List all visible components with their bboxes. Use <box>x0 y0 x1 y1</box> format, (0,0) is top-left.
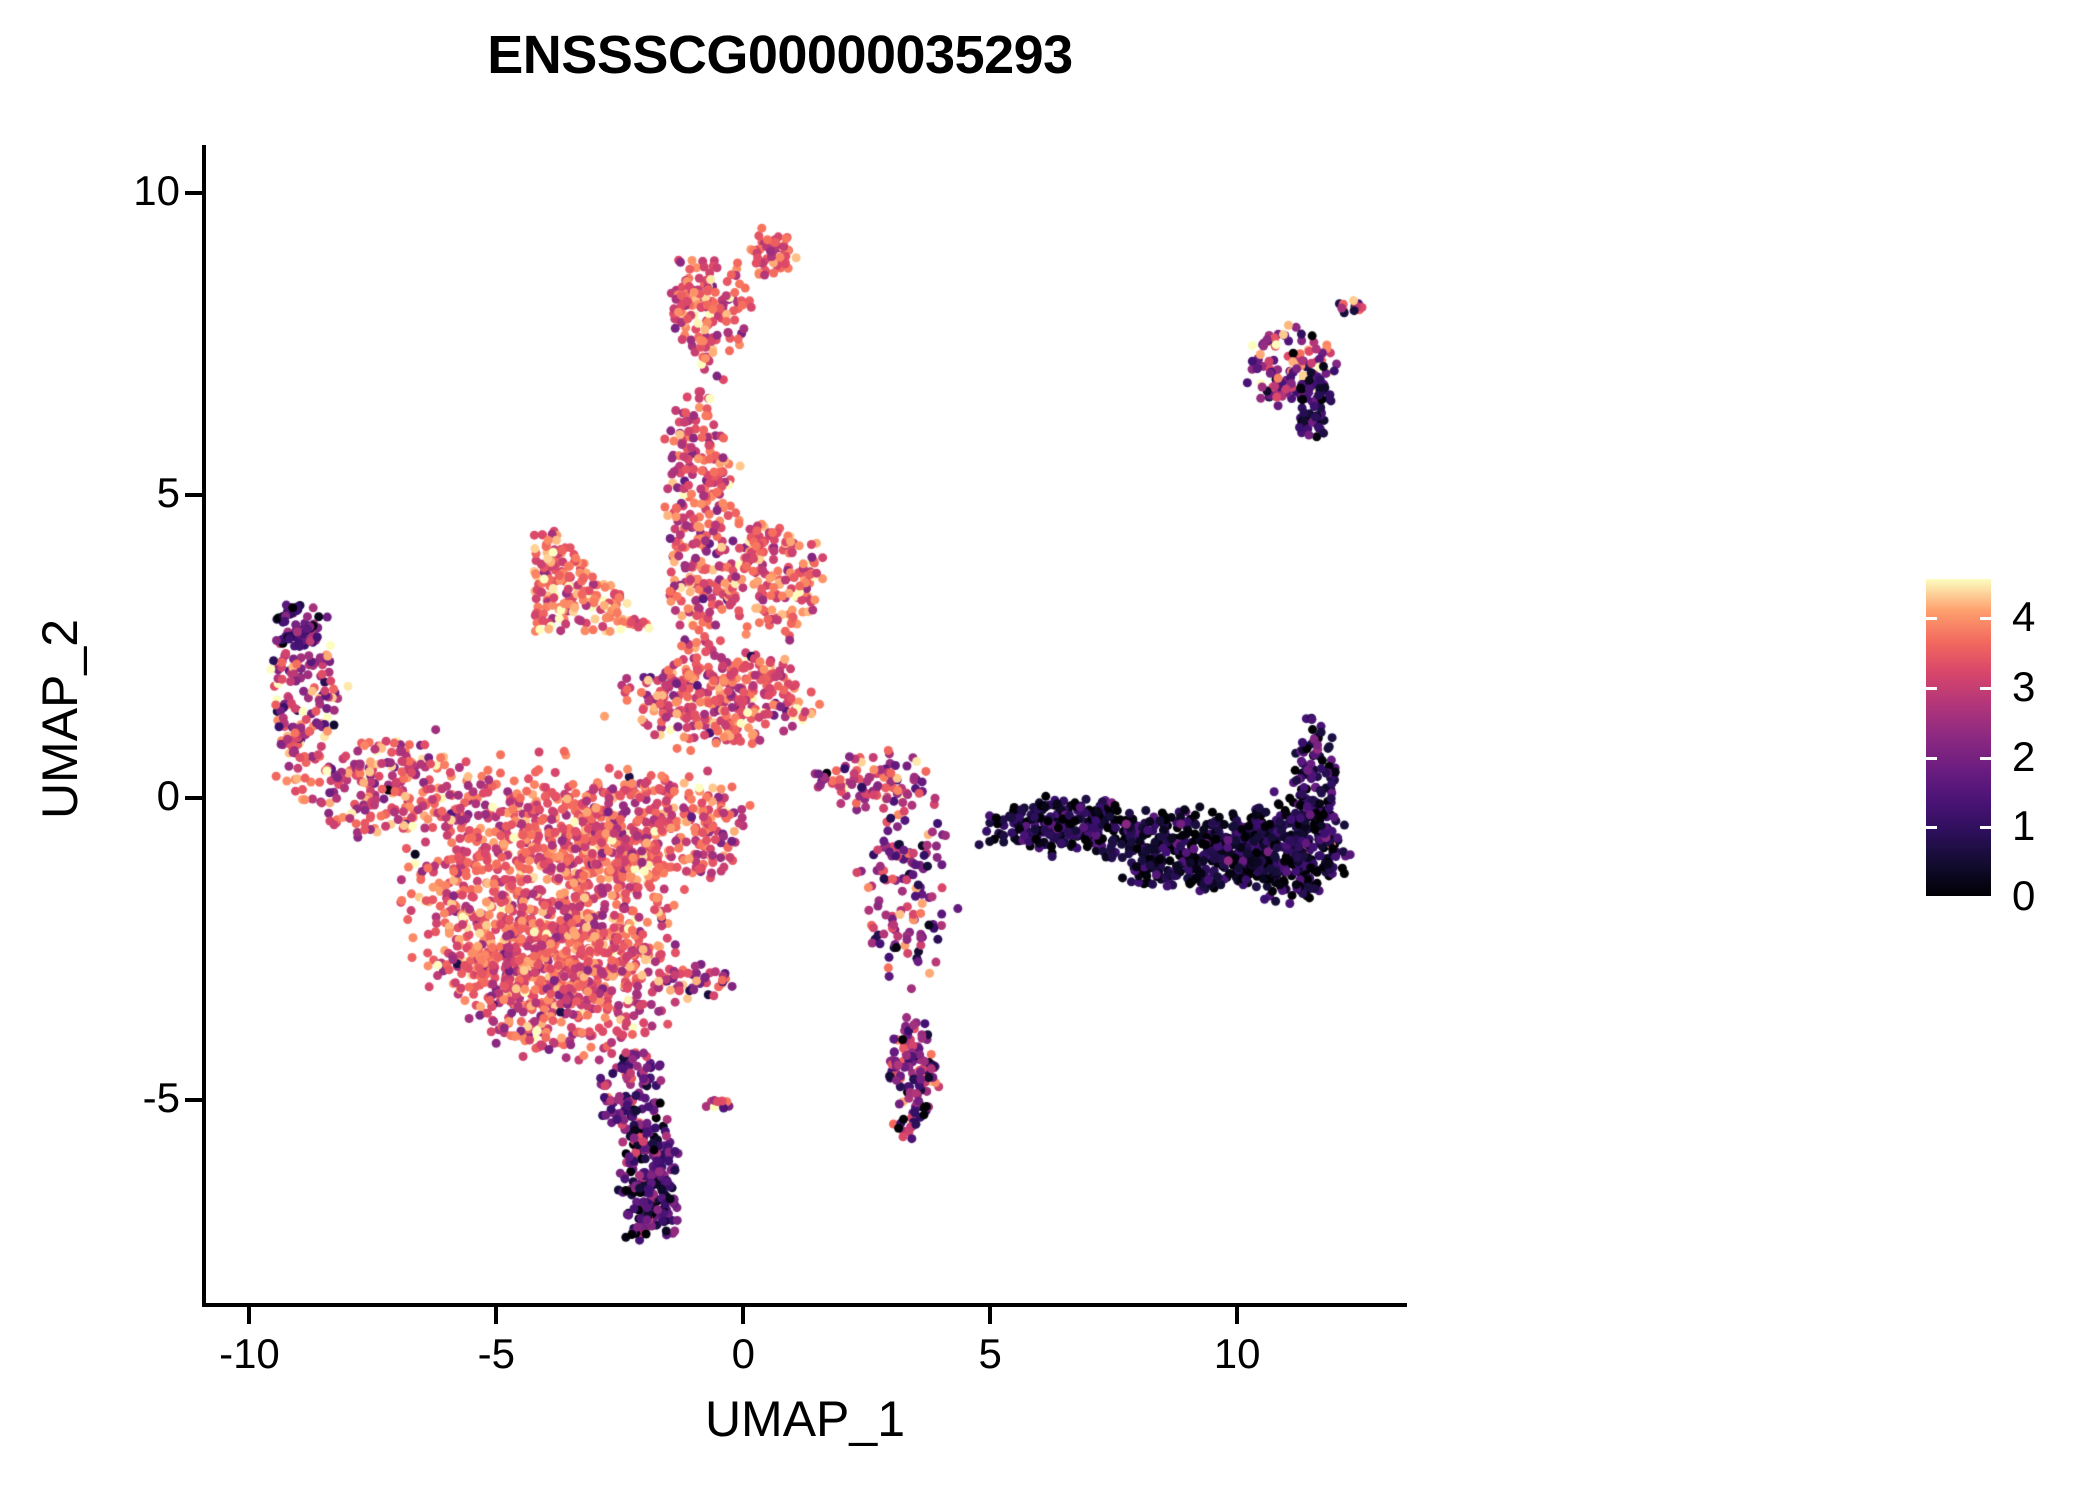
y-tick-mark <box>185 1098 202 1102</box>
x-tick-mark <box>247 1307 251 1324</box>
x-tick-mark <box>494 1307 498 1324</box>
page-title: ENSSSCG00000035293 <box>0 24 1560 86</box>
x-axis-line <box>202 1303 1407 1307</box>
x-tick-label: -10 <box>219 1330 280 1378</box>
y-tick-mark <box>185 796 202 800</box>
x-tick-label: 5 <box>978 1330 1001 1378</box>
y-tick-label: 5 <box>157 469 180 517</box>
x-tick-mark <box>1235 1307 1239 1324</box>
colorbar-tick-label: 4 <box>2012 593 2035 641</box>
colorbar-tick-label: 0 <box>2012 872 2035 920</box>
colorbar-tick-mark <box>1980 896 1991 899</box>
colorbar-tick-mark <box>1926 617 1937 620</box>
colorbar-tick-mark <box>1926 826 1937 829</box>
colorbar-tick-mark <box>1980 757 1991 760</box>
y-tick-label: 0 <box>157 772 180 820</box>
x-tick-mark <box>741 1307 745 1324</box>
y-tick-label: -5 <box>143 1074 180 1122</box>
colorbar-gradient <box>1926 579 1991 896</box>
scatter-plot-canvas <box>205 145 1405 1305</box>
y-tick-mark <box>185 493 202 497</box>
x-tick-label: 0 <box>732 1330 755 1378</box>
y-axis-line <box>202 145 206 1307</box>
colorbar-tick-mark <box>1980 617 1991 620</box>
x-tick-label: 10 <box>1214 1330 1261 1378</box>
colorbar-tick-mark <box>1926 687 1937 690</box>
x-tick-label: -5 <box>478 1330 515 1378</box>
y-tick-label: 10 <box>133 167 180 215</box>
colorbar-tick-label: 1 <box>2012 802 2035 850</box>
y-axis-title: UMAP_2 <box>31 369 89 1069</box>
x-axis-title: UMAP_1 <box>205 1390 1405 1448</box>
colorbar-tick-mark <box>1980 826 1991 829</box>
colorbar-tick-label: 2 <box>2012 733 2035 781</box>
colorbar-tick-mark <box>1926 896 1937 899</box>
colorbar-tick-mark <box>1980 687 1991 690</box>
plot-panel <box>205 145 1405 1305</box>
x-tick-mark <box>988 1307 992 1324</box>
colorbar-tick-label: 3 <box>2012 663 2035 711</box>
umap-figure: ENSSSCG00000035293 -50510 -10-50510 UMAP… <box>0 0 2100 1500</box>
y-tick-mark <box>185 191 202 195</box>
colorbar-tick-mark <box>1926 757 1937 760</box>
